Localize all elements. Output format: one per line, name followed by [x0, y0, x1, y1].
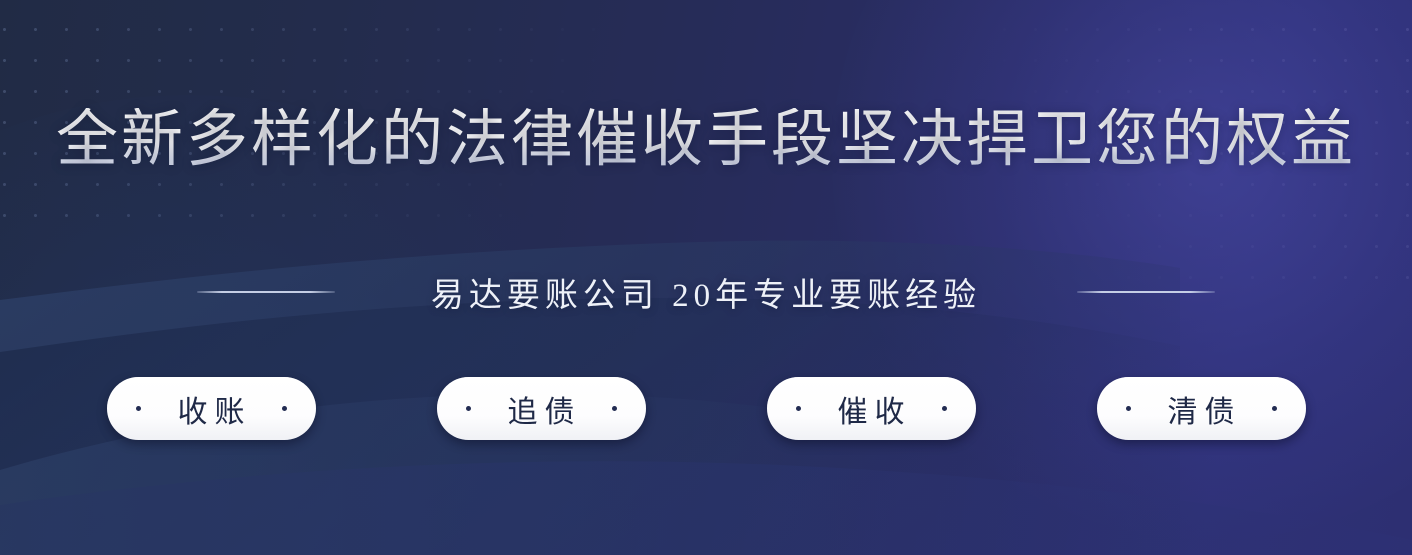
- bullet-dot-icon: [612, 406, 617, 411]
- subtitle-text: 易达要账公司 20年专业要账经验: [431, 268, 981, 316]
- bullet-dot-icon: [1126, 406, 1131, 411]
- service-pill-shouzhang[interactable]: 收账: [107, 377, 316, 440]
- service-pill-zhuizhai[interactable]: 追债: [437, 377, 646, 440]
- bullet-dot-icon: [282, 406, 287, 411]
- service-pill-row: 收账 追债 催收 清债: [0, 377, 1412, 440]
- service-pill-qingzhai[interactable]: 清债: [1097, 377, 1306, 440]
- bullet-dot-icon: [136, 406, 141, 411]
- promo-banner: 全新多样化的法律催收手段坚决捍卫您的权益 易达要账公司 20年专业要账经验 收账…: [0, 0, 1412, 555]
- service-pill-label: 追债: [501, 387, 582, 431]
- bullet-dot-icon: [942, 406, 947, 411]
- banner-content: 全新多样化的法律催收手段坚决捍卫您的权益 易达要账公司 20年专业要账经验 收账…: [0, 0, 1412, 555]
- service-pill-cuishou[interactable]: 催收: [767, 377, 976, 440]
- divider-line-right: [1077, 291, 1215, 293]
- service-pill-label: 收账: [171, 387, 252, 431]
- divider-line-left: [197, 291, 335, 293]
- bullet-dot-icon: [1272, 406, 1277, 411]
- service-pill-label: 清债: [1161, 387, 1242, 431]
- page-title: 全新多样化的法律催收手段坚决捍卫您的权益: [0, 108, 1412, 173]
- bullet-dot-icon: [466, 406, 471, 411]
- subtitle-row: 易达要账公司 20年专业要账经验: [0, 268, 1412, 316]
- service-pill-label: 催收: [831, 387, 912, 431]
- bullet-dot-icon: [796, 406, 801, 411]
